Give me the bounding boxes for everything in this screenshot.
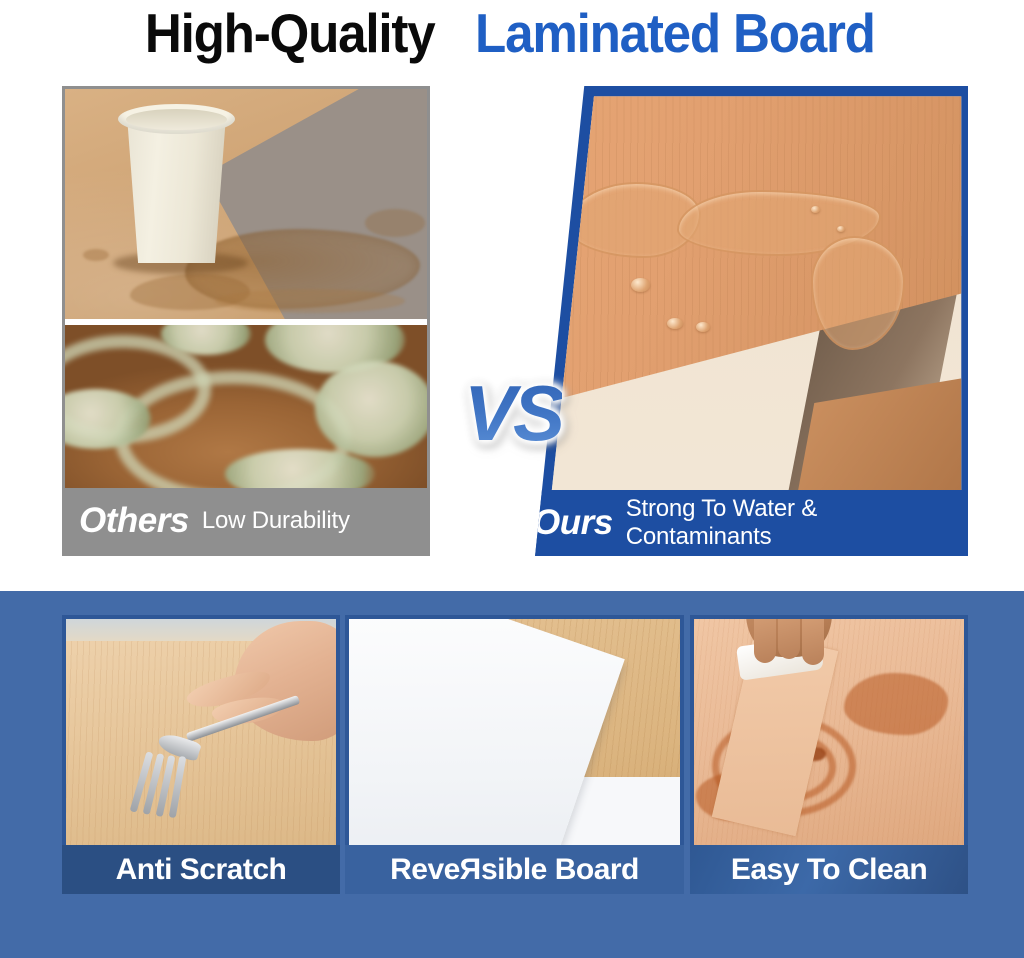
sauce-blob-right bbox=[844, 673, 948, 735]
page-title-part-blue: Laminated Board bbox=[475, 6, 875, 61]
water-droplet-2 bbox=[667, 318, 683, 329]
others-subtitle: Low Durability bbox=[202, 507, 350, 535]
feature-card-reversible-board: ReveRsible Board bbox=[345, 615, 684, 894]
water-droplet-4 bbox=[811, 206, 820, 213]
spill-stain-small bbox=[365, 209, 425, 237]
feature-card-anti-scratch: Anti Scratch bbox=[62, 615, 340, 894]
page-title-part-black: High-Quality bbox=[145, 6, 435, 61]
feature-caption-easy-to-clean: Easy To Clean bbox=[690, 845, 968, 894]
finger-1 bbox=[754, 619, 776, 663]
spill-droplet bbox=[83, 249, 109, 261]
ours-board-image bbox=[481, 86, 968, 556]
others-spill-image bbox=[65, 89, 427, 319]
mold-patch-right bbox=[315, 361, 427, 457]
features-section: Anti Scratch ReveRsible Board bbox=[0, 591, 1024, 958]
feature-caption-reversible-board: ReveRsible Board bbox=[345, 845, 684, 894]
feature-image-anti-scratch bbox=[66, 619, 336, 845]
feature-caption-text: Easy To Clean bbox=[731, 853, 927, 887]
others-title: Others bbox=[79, 501, 189, 541]
feature-image-easy-to-clean bbox=[694, 619, 964, 845]
reversed-r-glyph: R bbox=[460, 853, 481, 887]
ours-label-band: Ours Strong To Water & Contaminants bbox=[481, 490, 968, 556]
feature-caption-text-pre: Reve bbox=[390, 853, 460, 887]
paper-cup bbox=[120, 113, 233, 263]
feature-image-reversible-board bbox=[349, 619, 680, 845]
ours-panel: Ours Strong To Water & Contaminants bbox=[481, 86, 968, 556]
feature-caption-text: Anti Scratch bbox=[116, 853, 287, 887]
ours-subtitle: Strong To Water & Contaminants bbox=[626, 495, 968, 551]
hand bbox=[746, 619, 832, 657]
vs-badge: VS bbox=[464, 368, 562, 459]
others-mold-image bbox=[65, 325, 427, 488]
water-droplet-3 bbox=[696, 322, 710, 332]
feature-card-easy-to-clean: Easy To Clean bbox=[690, 615, 968, 894]
water-droplet-1 bbox=[631, 278, 650, 292]
ours-title: Ours bbox=[533, 503, 613, 543]
others-panel: Others Low Durability bbox=[62, 86, 430, 556]
comparison-section: Others Low Durability Ours Strong To Wat… bbox=[62, 86, 968, 556]
feature-caption-text-post: sible Board bbox=[481, 853, 639, 887]
finger-2 bbox=[778, 619, 800, 659]
feature-caption-anti-scratch: Anti Scratch bbox=[62, 845, 340, 894]
page-title: High-Quality Laminated Board bbox=[0, 2, 1024, 64]
spill-streak bbox=[215, 289, 405, 313]
others-label-band: Others Low Durability bbox=[65, 488, 427, 553]
finger-3 bbox=[802, 619, 824, 665]
cup-interior bbox=[126, 109, 227, 130]
water-droplet-5 bbox=[837, 226, 845, 232]
